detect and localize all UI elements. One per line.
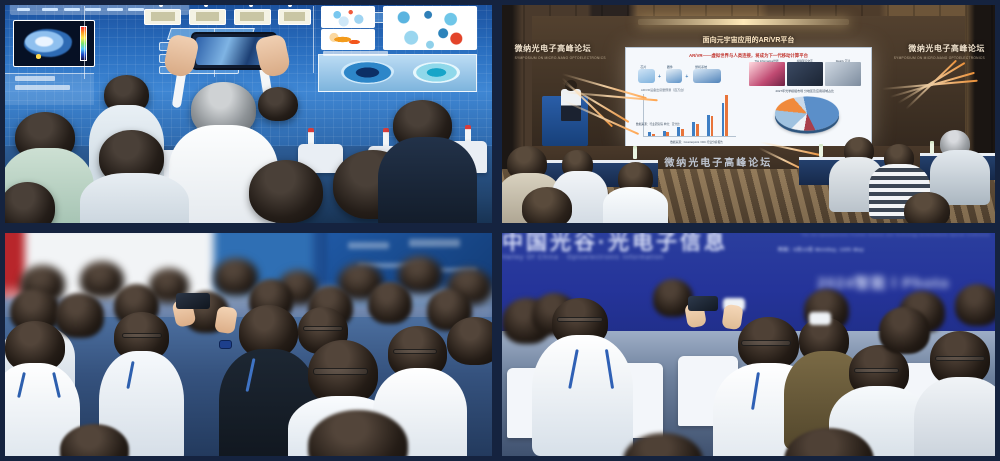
speaker-body — [561, 89, 581, 121]
projected-slide-title: 面向元宇宙应用的AR/VR平台 — [628, 35, 869, 45]
bar-chart-caption: AR/VR设备出货量预测（百万台） — [641, 88, 686, 92]
pie-chart — [775, 96, 839, 131]
forum-banner-title-right: 微纳光电子高峰论坛 — [908, 43, 985, 54]
attendee-head — [879, 307, 929, 354]
attendee-head — [55, 293, 105, 337]
attendee-head — [447, 317, 497, 366]
audience-head — [904, 192, 949, 228]
eyeglasses — [935, 356, 985, 361]
eyeglasses — [854, 368, 899, 373]
slide-icon-row: 芯片 器件 整机系统 + + — [638, 64, 736, 86]
forum-banner-subtitle-left: SYMPOSIUM ON MICRO-NANO OPTOELECTRONICS — [515, 56, 606, 60]
pie-chart-title: 2027年光学模组市场 分地区及应用领域占比 — [749, 89, 861, 93]
photo-dense-audience-phones — [0, 228, 497, 461]
photo-panel-top-left — [0, 0, 497, 228]
pie-chart-note: 数据来源：行业研究院 单位：百分比 — [636, 123, 680, 127]
eyeglasses — [741, 340, 791, 346]
eyeglasses — [303, 326, 343, 331]
eyeglasses — [122, 333, 162, 338]
wristwatch — [219, 340, 232, 349]
eyeglasses — [393, 349, 438, 354]
slide-footer-note: 数据来源：Counterpoint / IDC 行业分析报告 — [670, 141, 723, 145]
backdrop-conference-line-en: The 3rd Optoelectronic Frontier Science … — [801, 233, 990, 237]
slide-photo-strip — [749, 62, 861, 86]
backdrop-title-cn: 中国光谷·光电子信息 — [502, 228, 728, 256]
attendee-head — [258, 87, 298, 121]
stage-light-strip — [638, 19, 849, 24]
projection-screen: AR/VR——虚拟世界与人类连接，将成为下一代移动计算平台 芯片 器件 整机系统… — [625, 47, 871, 147]
backdrop-year-line: 2024智能 l Photo — [817, 272, 949, 293]
photo-audience-technical-screen — [0, 0, 497, 228]
forum-banner-title-left: 微纳光电子高峰论坛 — [515, 43, 592, 54]
backdrop-date-line: 时间：5月13日 Monday, 13th May — [778, 247, 864, 253]
attendee-head — [368, 282, 413, 324]
bar-chart — [643, 94, 736, 137]
photo-panel-bottom-right: 中国光谷·光电子信息 Valley Of China · Optoelectro… — [497, 228, 1000, 461]
smartphone-camera — [688, 296, 718, 311]
eyeglasses — [557, 317, 602, 322]
eyeglasses — [313, 368, 368, 375]
attendee-head — [0, 182, 55, 228]
smartphone-camera — [176, 293, 210, 309]
speaker-head — [565, 80, 577, 91]
photo-panel-top-right: 微纳光电子高峰论坛 SYMPOSIUM ON MICRO-NANO OPTOEL… — [497, 0, 1000, 228]
photo-panel-bottom-left — [0, 228, 497, 461]
thermal-imaging-panel — [13, 20, 95, 67]
photo-grid: 微纳光电子高峰论坛 SYMPOSIUM ON MICRO-NANO OPTOEL… — [0, 0, 1000, 461]
photo-seated-audience-backdrop: 中国光谷·光电子信息 Valley Of China · Optoelectro… — [497, 228, 1000, 461]
photo-collage: 微纳光电子高峰论坛 SYMPOSIUM ON MICRO-NANO OPTOEL… — [0, 0, 1000, 461]
forum-banner-subtitle-right: SYMPOSIUM ON MICRO-NANO OPTOELECTRONICS — [894, 56, 985, 60]
backdrop-title-en: Valley Of China · Optoelectronic Informa… — [502, 254, 664, 261]
attendee-head — [249, 160, 324, 224]
photo-conference-presentation: 微纳光电子高峰论坛 SYMPOSIUM ON MICRO-NANO OPTOEL… — [497, 0, 1000, 228]
audience-head — [522, 187, 572, 228]
